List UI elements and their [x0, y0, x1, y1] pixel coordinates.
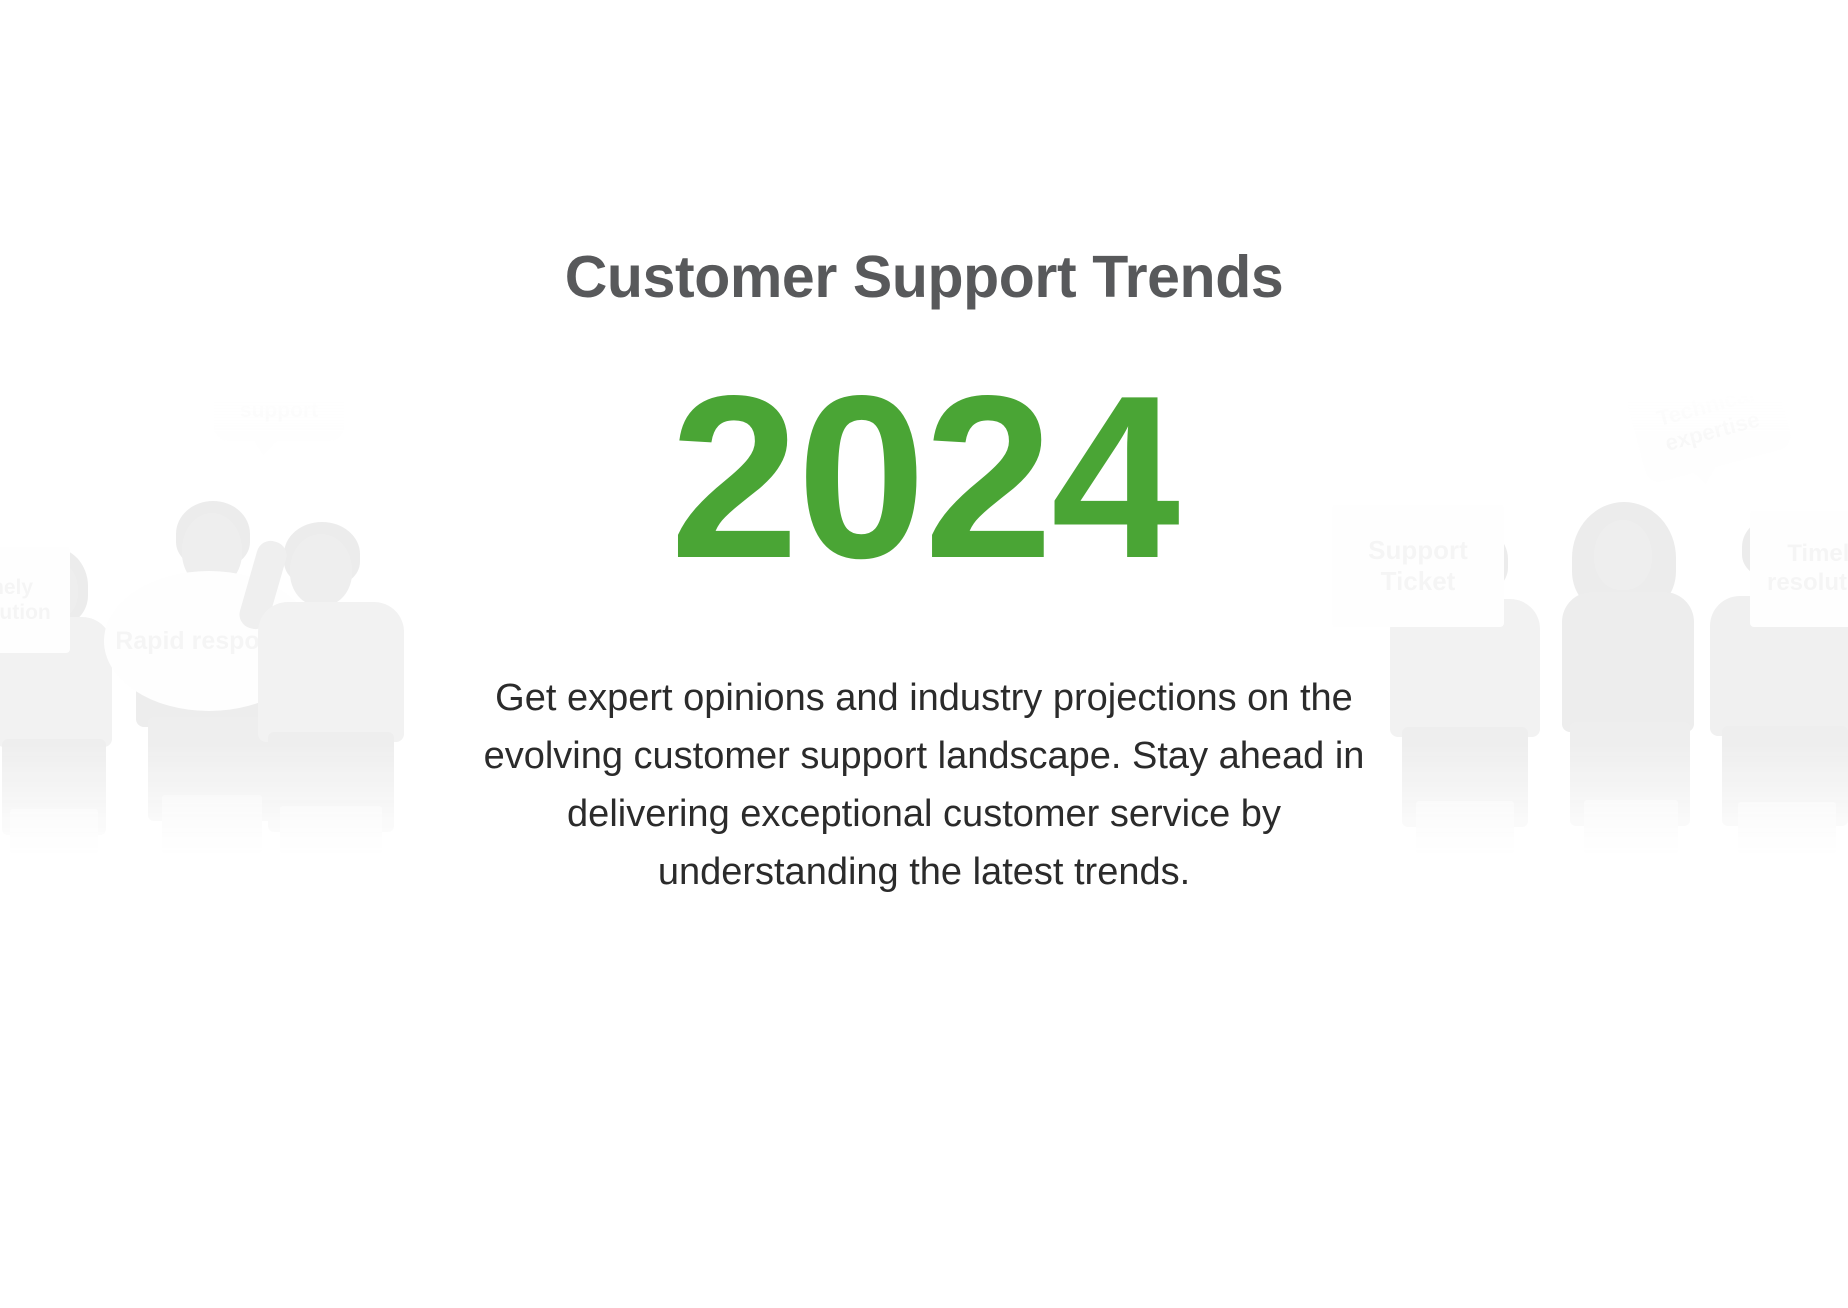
hero-section: Timely resolution Rapid response	[0, 0, 1848, 1308]
hero-year: 2024	[0, 307, 1848, 598]
hero-description: Get expert opinions and industry project…	[394, 598, 1454, 901]
hero-content: Customer Support Trends 2024 Get expert …	[0, 0, 1848, 901]
page-title: Customer Support Trends	[0, 0, 1848, 307]
